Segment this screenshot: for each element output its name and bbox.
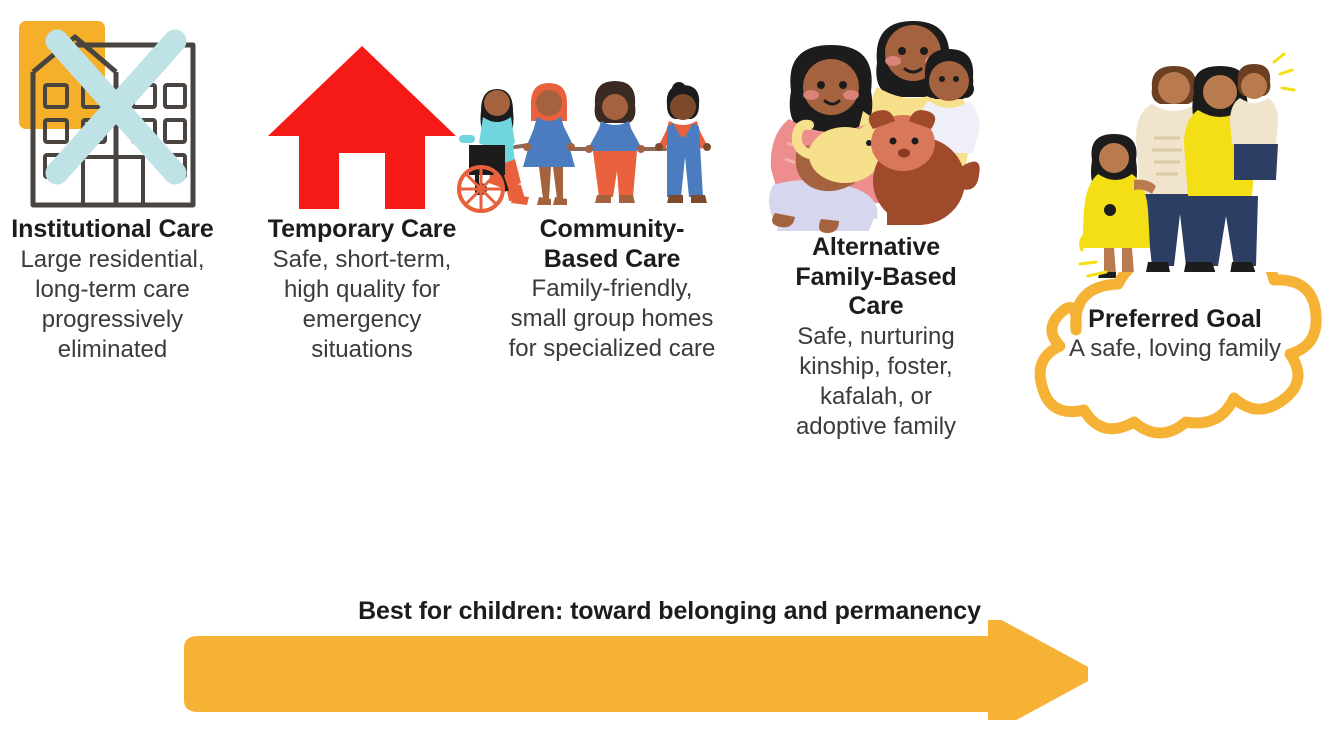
seated-family-with-pets-icon (769, 3, 984, 233)
column-title-community: Community-Based Care (508, 215, 716, 274)
column-description-preferred: A safe, loving family (1050, 334, 1300, 364)
standing-family-on-cloud-icon (1078, 48, 1302, 288)
baby-held-figure (1230, 54, 1294, 180)
column-description-community: Family-friendly, small group homes for s… (508, 274, 716, 364)
cross-out-x-icon (41, 27, 191, 187)
community-art (443, 0, 743, 215)
stage-column-institutional: Institutional Care Large residential, lo… (10, 0, 215, 365)
preferred-goal-cloud: Preferred Goal A safe, loving family (1004, 272, 1339, 477)
alternative-art (769, 0, 984, 233)
preferred-goal-art (1078, 48, 1302, 288)
cloud-outline-icon (1004, 272, 1339, 477)
right-arrow-icon (168, 620, 1088, 720)
column-title-institutional: Institutional Care (11, 215, 213, 245)
column-title-temporary: Temporary Care (268, 215, 457, 245)
red-house-icon (267, 40, 457, 215)
temporary-art (262, 0, 462, 215)
crossed-out-institution-building-icon (13, 15, 213, 215)
child-in-blue-dress (523, 83, 575, 205)
child-in-overalls (655, 82, 711, 203)
stage-column-temporary: Temporary Care Safe, short-term, high qu… (262, 0, 462, 365)
stage-column-alternative: Alternative Family-Based Care Safe, nurt… (772, 0, 980, 442)
column-description-alternative: Safe, nurturing kinship, foster, kafalah… (772, 322, 980, 442)
column-title-preferred: Preferred Goal (1050, 304, 1300, 334)
wheelchair-child (459, 89, 529, 211)
column-title-alternative: Alternative Family-Based Care (772, 233, 980, 322)
column-description-temporary: Safe, short-term, high quality for emerg… (262, 245, 462, 365)
four-children-holding-hands-icon (443, 75, 743, 215)
infographic-canvas: Institutional Care Large residential, lo… (0, 0, 1339, 735)
child-in-red-trousers (585, 81, 645, 203)
column-description-institutional: Large residential, long-term care progre… (10, 245, 215, 365)
preferred-goal-text: Preferred Goal A safe, loving family (1050, 304, 1300, 364)
stage-column-community: Community-Based Care Family-friendly, sm… (508, 0, 716, 364)
institutional-art (10, 0, 215, 215)
